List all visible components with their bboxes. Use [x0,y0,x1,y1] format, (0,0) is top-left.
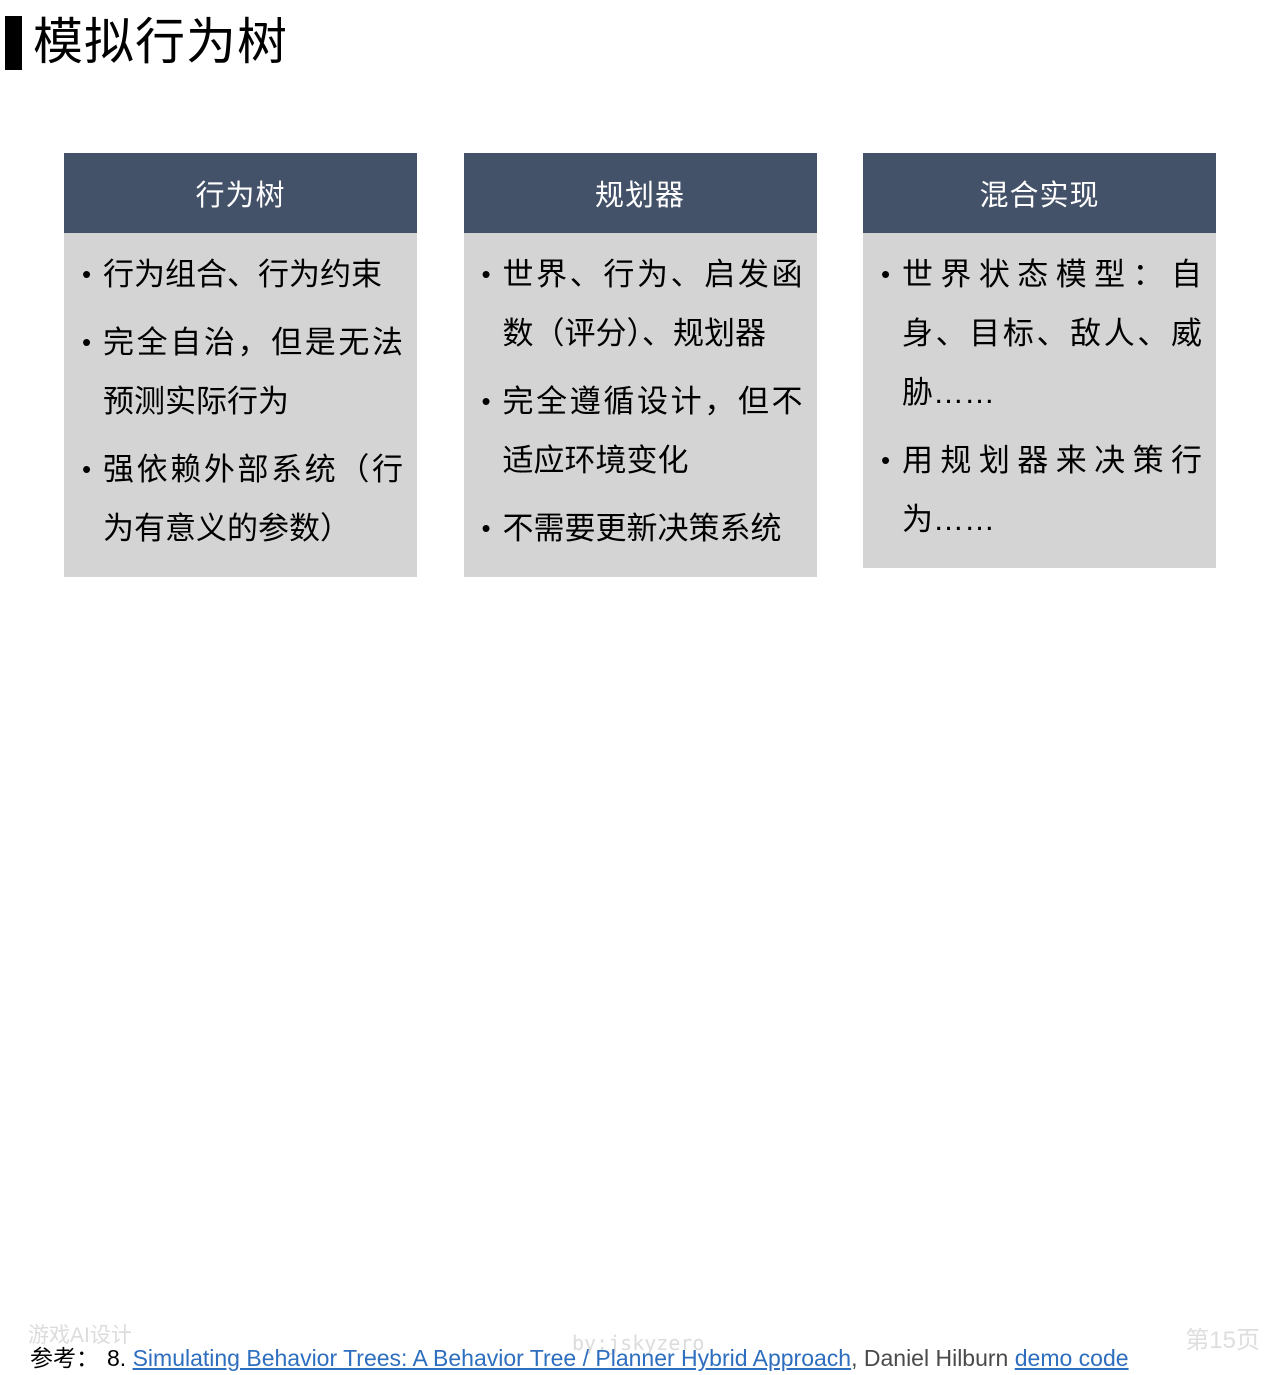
slide-footer: 游戏AI设计 by:jskyzero 第15页 参考：8. Simulating… [0,660,1280,720]
list-item: 完全遵循设计，但不适应环境变化 [482,372,803,490]
column-body-behavior-tree: 行为组合、行为约束 完全自治，但是无法预测实际行为 强依赖外部系统（行为有意义的… [64,233,417,577]
reference-number: 8. [107,1345,126,1371]
column-card-hybrid: 混合实现 世界状态模型：自身、目标、敌人、威胁…… 用规划器来决策行为…… [863,153,1216,564]
list-item: 世界、行为、启发函数（评分）、规划器 [482,245,803,363]
column-header-planner: 规划器 [464,153,817,233]
reference-author: , Daniel Hilburn [851,1345,1015,1371]
bullet-list-hybrid: 世界状态模型：自身、目标、敌人、威胁…… 用规划器来决策行为…… [881,245,1202,549]
bullet-list-behavior-tree: 行为组合、行为约束 完全自治，但是无法预测实际行为 强依赖外部系统（行为有意义的… [82,245,403,558]
comparison-columns: 行为树 行为组合、行为约束 完全自治，但是无法预测实际行为 强依赖外部系统（行为… [64,153,1216,564]
list-item: 不需要更新决策系统 [482,499,803,558]
title-accent-bar [5,16,22,70]
list-item: 行为组合、行为约束 [82,245,403,304]
list-item: 强依赖外部系统（行为有意义的参数） [82,440,403,558]
column-card-behavior-tree: 行为树 行为组合、行为约束 完全自治，但是无法预测实际行为 强依赖外部系统（行为… [64,153,417,564]
bullet-list-planner: 世界、行为、启发函数（评分）、规划器 完全遵循设计，但不适应环境变化 不需要更新… [482,245,803,558]
list-item: 世界状态模型：自身、目标、敌人、威胁…… [881,245,1202,422]
page-title: 模拟行为树 [33,9,288,75]
list-item: 完全自治，但是无法预测实际行为 [82,313,403,431]
reference-line: 参考：8. Simulating Behavior Trees: A Behav… [30,1341,1129,1375]
reference-label: 参考： [30,1345,99,1371]
demo-code-link[interactable]: demo code [1015,1345,1129,1371]
page-number: 第15页 [1185,1326,1260,1356]
reference-paper-link[interactable]: Simulating Behavior Trees: A Behavior Tr… [133,1345,852,1371]
column-header-behavior-tree: 行为树 [64,153,417,233]
column-header-hybrid: 混合实现 [863,153,1216,233]
column-body-hybrid: 世界状态模型：自身、目标、敌人、威胁…… 用规划器来决策行为…… [863,233,1216,568]
column-card-planner: 规划器 世界、行为、启发函数（评分）、规划器 完全遵循设计，但不适应环境变化 不… [464,153,817,564]
list-item: 用规划器来决策行为…… [881,431,1202,549]
column-body-planner: 世界、行为、启发函数（评分）、规划器 完全遵循设计，但不适应环境变化 不需要更新… [464,233,817,577]
slide-title-area: 模拟行为树 [0,0,1280,110]
